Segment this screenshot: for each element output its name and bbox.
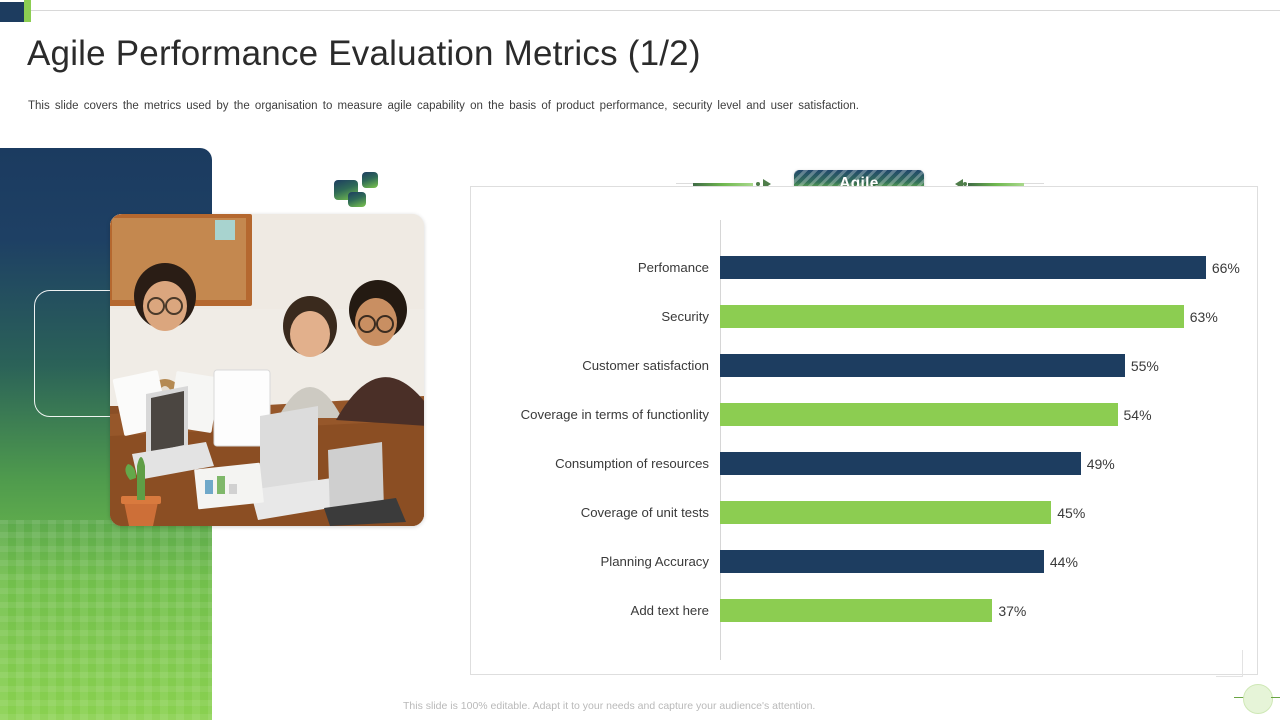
chart-value-label: 63% [1190,309,1218,325]
chart-bar-track: 66% [720,243,1257,292]
chart-bar [720,452,1081,475]
chart-category-label: Security [471,309,720,324]
chart-category-label: Customer satisfaction [471,358,720,373]
dot-texture [0,520,212,720]
chart-category-label: Perfomance [471,260,720,275]
chart-value-label: 37% [998,603,1026,619]
chart-bar-row: Customer satisfaction55% [471,341,1257,390]
chart-value-label: 49% [1087,456,1115,472]
chart-category-label: Coverage of unit tests [471,505,720,520]
chart-bar-track: 45% [720,488,1257,537]
footer-note: This slide is 100% editable. Adapt it to… [403,700,1003,712]
connector-tail-right [1024,183,1044,184]
chart-value-label: 66% [1212,260,1240,276]
chart-bar [720,599,992,622]
chart-bar-row: Security63% [471,292,1257,341]
chart-bar-track: 49% [720,439,1257,488]
chart-bar-row: Planning Accuracy44% [471,537,1257,586]
footer-circle [1243,684,1273,714]
connector-tail-left [676,183,694,184]
chart-bar-row: Perfomance66% [471,243,1257,292]
metrics-bar-chart: Perfomance66%Security63%Customer satisfa… [470,186,1258,675]
team-meeting-photo [110,214,424,526]
top-divider [31,10,1280,11]
decor-square-2 [362,172,378,188]
footer-corner-shape [1216,650,1243,677]
chart-value-label: 54% [1124,407,1152,423]
chart-value-label: 45% [1057,505,1085,521]
corner-green-block [24,0,31,22]
page-subtitle: This slide covers the metrics used by th… [28,98,1128,115]
chart-bar-track: 37% [720,586,1257,635]
chart-bar [720,501,1051,524]
chart-bar-row: Coverage of unit tests45% [471,488,1257,537]
chart-bar-track: 44% [720,537,1257,586]
chart-bar [720,550,1044,573]
chart-bar [720,256,1206,279]
chart-bar-row: Add text here37% [471,586,1257,635]
chart-bar [720,305,1184,328]
footer-line-right [1271,697,1280,698]
chart-bar-track: 63% [720,292,1257,341]
chart-bar-track: 54% [720,390,1257,439]
chart-value-label: 44% [1050,554,1078,570]
decor-square-3 [348,192,366,207]
chart-value-label: 55% [1131,358,1159,374]
chart-bar-track: 55% [720,341,1257,390]
chart-bar-row: Consumption of resources49% [471,439,1257,488]
corner-navy-block [0,2,24,22]
chart-category-label: Coverage in terms of functionlity [471,407,720,422]
chart-bar-rows: Perfomance66%Security63%Customer satisfa… [471,243,1257,635]
chart-bar-row: Coverage in terms of functionlity54% [471,390,1257,439]
chart-category-label: Planning Accuracy [471,554,720,569]
chart-bar [720,354,1125,377]
slide: Agile Performance Evaluation Metrics (1/… [0,0,1280,720]
chart-category-label: Consumption of resources [471,456,720,471]
page-title: Agile Performance Evaluation Metrics (1/… [27,30,1027,78]
chart-category-label: Add text here [471,603,720,618]
chart-bar [720,403,1118,426]
